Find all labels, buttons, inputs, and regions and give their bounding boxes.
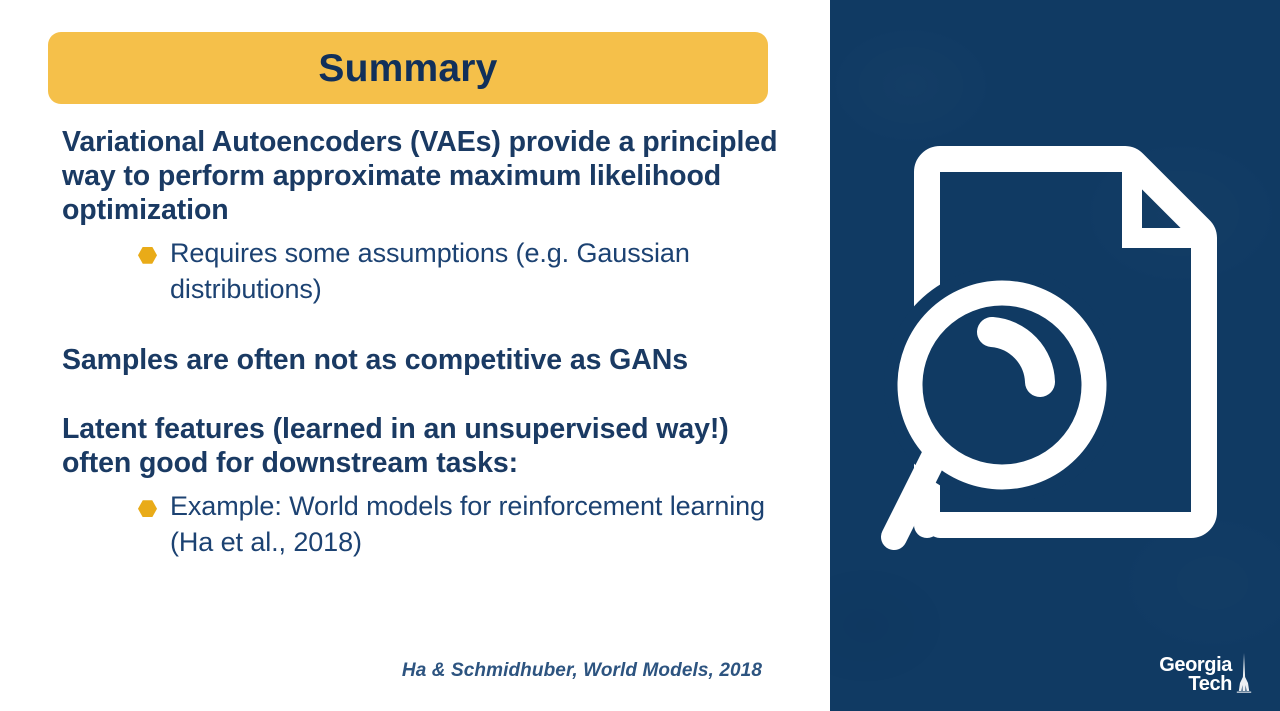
content-block: Variational Autoencoders (VAEs) provide …	[62, 126, 802, 308]
citation-text: Ha & Schmidhuber, World Models, 2018	[62, 660, 762, 682]
list-item: Requires some assumptions (e.g. Gaussian…	[62, 236, 802, 308]
content-block: Latent features (learned in an unsupervi…	[62, 413, 802, 561]
list-item: Example: World models for reinforcement …	[62, 489, 802, 561]
block-heading: Variational Autoencoders (VAEs) provide …	[62, 126, 802, 228]
sub-bullet-list: Requires some assumptions (e.g. Gaussian…	[62, 236, 802, 308]
block-heading: Samples are often not as competitive as …	[62, 344, 802, 378]
gt-tower-icon	[1236, 653, 1252, 693]
block-heading: Latent features (learned in an unsupervi…	[62, 413, 802, 481]
right-image-panel: Georgia Tech	[830, 0, 1280, 711]
hexagon-bullet-icon	[138, 247, 157, 264]
hexagon-bullet-icon	[138, 500, 157, 517]
georgia-tech-logo: Georgia Tech	[1159, 653, 1252, 693]
slide-canvas: Summary Variational Autoencoders (VAEs) …	[0, 0, 1280, 711]
gt-wordmark: Georgia Tech	[1159, 656, 1232, 693]
title-banner: Summary	[48, 32, 768, 104]
page-title: Summary	[318, 49, 497, 88]
body-content: Variational Autoencoders (VAEs) provide …	[62, 126, 802, 561]
document-search-icon	[880, 130, 1230, 570]
list-item-label: Example: World models for reinforcement …	[170, 491, 765, 557]
list-item-label: Requires some assumptions (e.g. Gaussian…	[170, 238, 690, 304]
gt-line-tech: Tech	[1188, 675, 1232, 693]
sub-bullet-list: Example: World models for reinforcement …	[62, 489, 802, 561]
gt-line-georgia: Georgia	[1159, 656, 1232, 674]
content-block: Samples are often not as competitive as …	[62, 344, 802, 378]
